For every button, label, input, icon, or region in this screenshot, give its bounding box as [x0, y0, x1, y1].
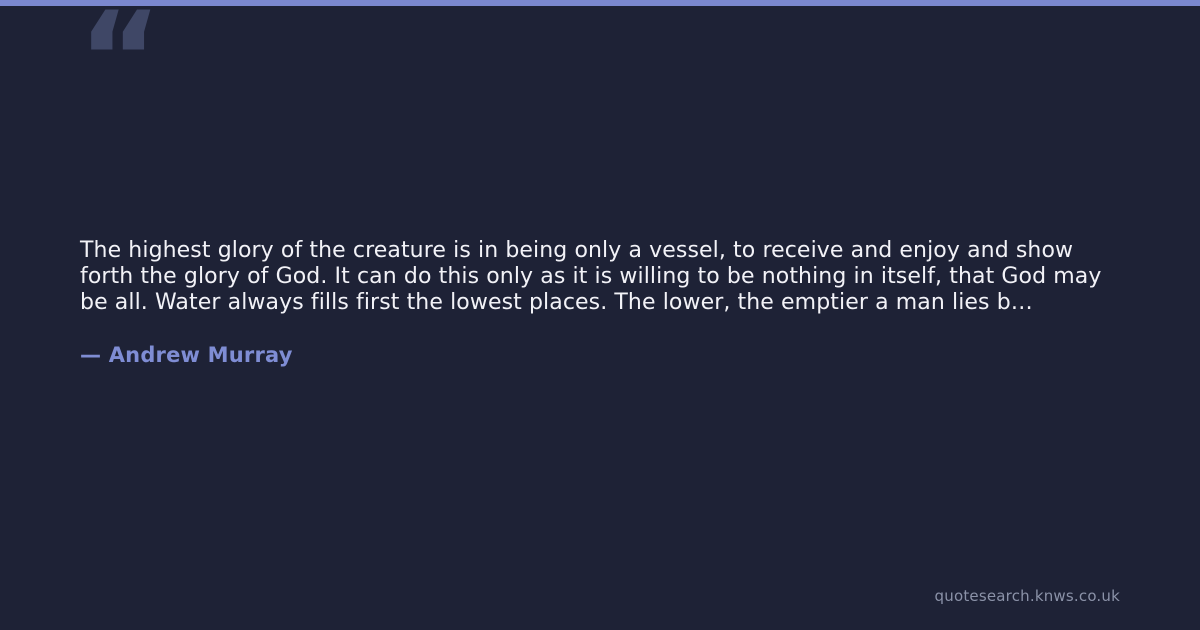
top-accent-bar: [0, 0, 1200, 6]
source-attribution: quotesearch.knws.co.uk: [935, 587, 1120, 605]
quotation-mark-icon: “: [78, 0, 160, 124]
quote-author: — Andrew Murray: [80, 342, 1120, 368]
quote-body: The highest glory of the creature is in …: [80, 238, 1120, 368]
quote-card: “ The highest glory of the creature is i…: [0, 0, 1200, 630]
quote-text: The highest glory of the creature is in …: [80, 238, 1120, 316]
